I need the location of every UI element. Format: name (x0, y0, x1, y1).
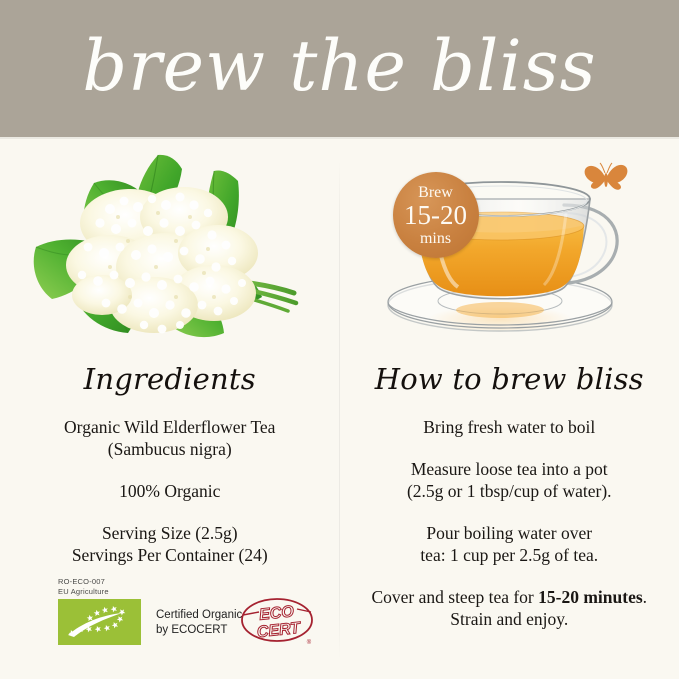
cert-authority-line: EU Agriculture (58, 587, 109, 597)
eu-organic-logo-icon (58, 599, 141, 645)
ecocert-logo: ECO CERT ® (239, 595, 317, 647)
badge-time-unit: mins (420, 230, 451, 247)
brew-time-badge: Brew 15-20 mins (393, 172, 479, 258)
brew-step-2: Measure loose tea into a pot (2.5g or 1 … (340, 458, 679, 502)
brewing-column: Brew 15-20 mins (340, 139, 679, 679)
banner-title: brew the bliss (82, 31, 596, 101)
badge-time-value: 15-20 (404, 201, 467, 230)
organic-claim: 100% Organic (22, 480, 318, 502)
brew-step-1: Bring fresh water to boil (340, 416, 679, 438)
brew-step-4-duration: 15-20 minutes (538, 587, 643, 607)
butterfly-icon (583, 161, 629, 200)
ingredient-item-organic: 100% Organic (0, 480, 340, 502)
elderflower-icon (18, 147, 318, 347)
butterfly-glyph (583, 161, 629, 195)
eu-organic-leaf-logo (58, 599, 141, 645)
serving-size: Serving Size (2.5g) (22, 522, 318, 544)
content-columns: Ingredients Organic Wild Elderflower Tea… (0, 139, 679, 679)
brewing-heading: How to brew bliss (340, 362, 679, 396)
serving-info: Serving Size (2.5g) Servings Per Contain… (0, 522, 340, 566)
header-banner: brew the bliss (0, 0, 679, 137)
ingredients-heading: Ingredients (0, 362, 340, 396)
brew-step-4-prefix: Cover and steep tea for (371, 587, 538, 607)
ecocert-caption: Certified Organic by ECOCERT (156, 608, 242, 638)
ingredient-tea-name: Organic Wild Elderflower Tea (22, 416, 318, 438)
badge-brew-label: Brew (418, 184, 453, 201)
brew-step-3: Pour boiling water over tea: 1 cup per 2… (340, 522, 679, 566)
brew-step-3-line2: tea: 1 cup per 2.5g of tea. (362, 544, 658, 566)
brew-step-2-line2: (2.5g or 1 tbsp/cup of water). (362, 480, 658, 502)
brew-step-1-line: Bring fresh water to boil (362, 416, 658, 438)
elderflower-illustration (0, 147, 339, 352)
elderflower-art-area (0, 139, 340, 354)
ingredient-item-tea: Organic Wild Elderflower Tea (Sambucus n… (0, 416, 340, 460)
eu-certification-code: RO-ECO-007 EU Agriculture (58, 577, 109, 597)
product-info-panel: brew the bliss (0, 0, 679, 679)
teacup-art-area: Brew 15-20 mins (340, 139, 679, 354)
ingredient-tea-latin: (Sambucus nigra) (22, 438, 318, 460)
ingredients-column: Ingredients Organic Wild Elderflower Tea… (0, 139, 340, 679)
ecocert-logo-icon: ECO CERT ® (239, 595, 317, 647)
certified-organic-line: Certified Organic (156, 608, 242, 623)
by-ecocert-line: by ECOCERT (156, 623, 242, 638)
servings-per-container: Servings Per Container (24) (22, 544, 318, 566)
brew-step-4: Cover and steep tea for 15-20 minutes. S… (340, 586, 679, 630)
brew-step-2-line1: Measure loose tea into a pot (362, 458, 658, 480)
cert-code-line: RO-ECO-007 (58, 577, 109, 587)
certification-block: RO-ECO-007 EU Agriculture (56, 577, 321, 645)
registered-mark: ® (307, 639, 312, 646)
brew-step-3-line1: Pour boiling water over (362, 522, 658, 544)
